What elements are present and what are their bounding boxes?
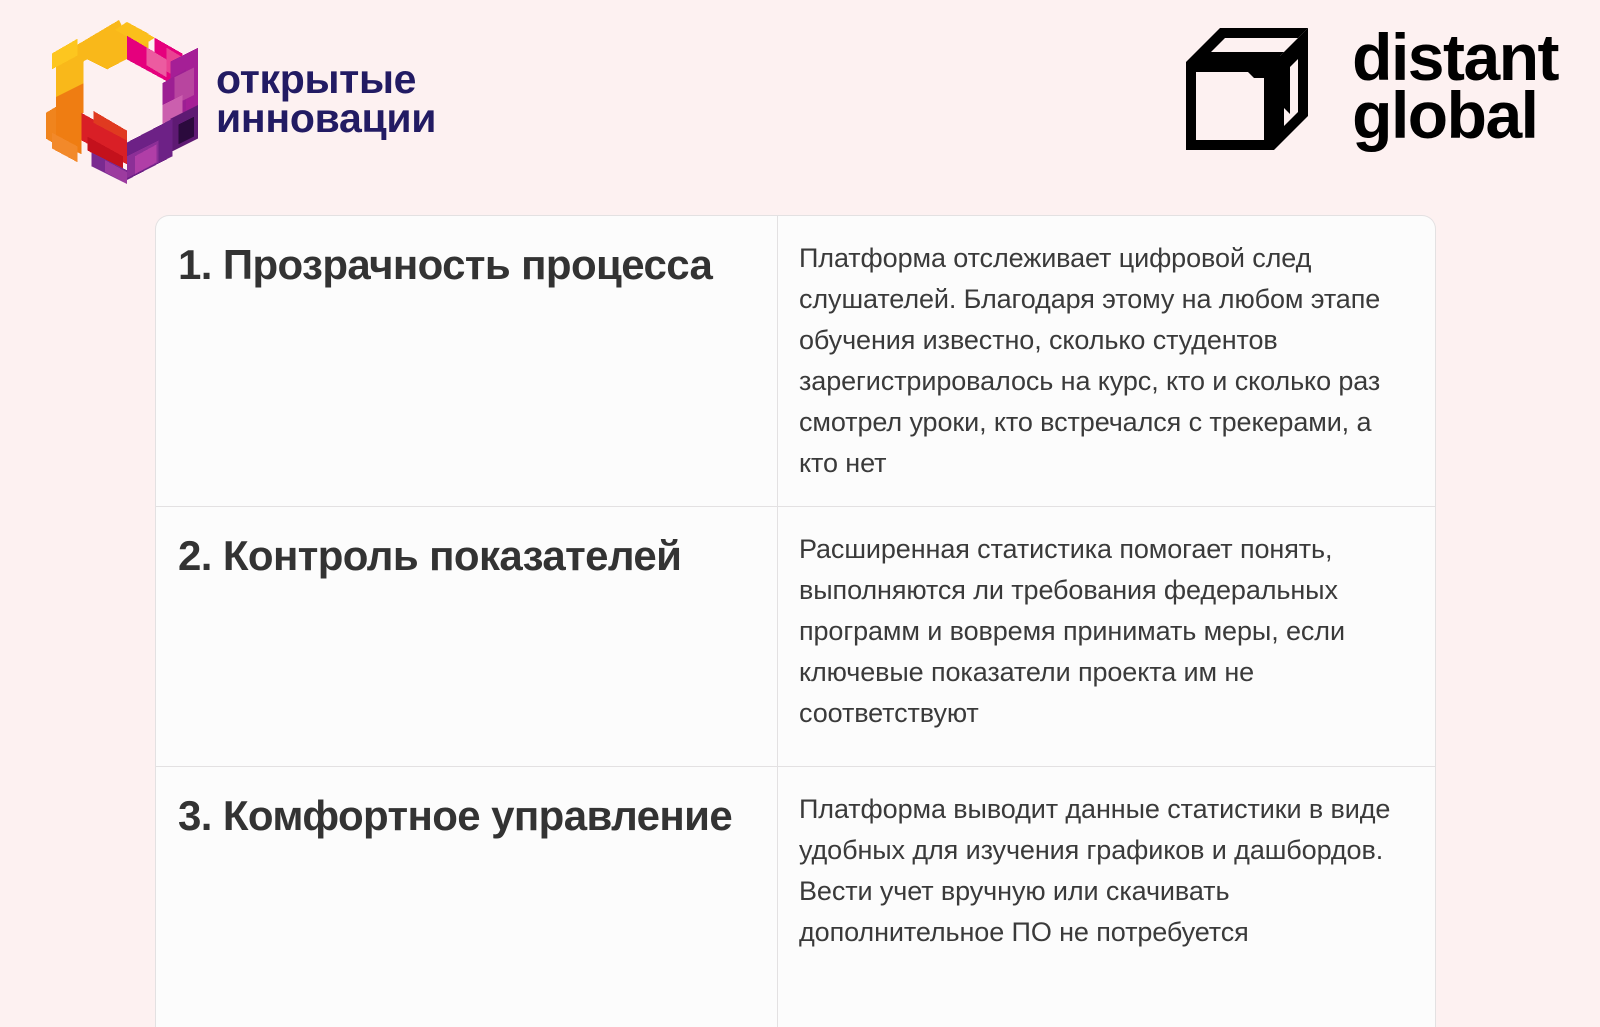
feature-title-cell: 3. Комфортное управление (156, 767, 778, 1027)
feature-description: Платформа отслеживает цифровой след слуш… (799, 238, 1405, 484)
feature-title: 3. Комфортное управление (178, 792, 747, 839)
open-innovations-logo: открытыеинновации (32, 14, 436, 184)
feature-description: Платформа выводит данные статистики в ви… (799, 789, 1405, 953)
distant-global-logo-text: distantglobal (1352, 28, 1558, 144)
feature-title: 2. Контроль показателей (178, 532, 747, 579)
hexagon-cube-logo-icon (32, 14, 210, 184)
feature-body-cell: Платформа отслеживает цифровой след слуш… (778, 216, 1435, 506)
cube-arrow-logo-icon (1180, 16, 1326, 156)
slide-header: открытыеинновации distantglobal (0, 0, 1600, 200)
open-innovations-logo-text: открытыеинновации (216, 60, 436, 139)
feature-title: 1. Прозрачность процесса (178, 241, 747, 288)
table-row: 1. Прозрачность процесса Платформа отсле… (156, 216, 1435, 507)
table-row: 3. Комфортное управление Платформа вывод… (156, 767, 1435, 1027)
distant-global-logo: distantglobal (1180, 16, 1558, 156)
feature-title-cell: 1. Прозрачность процесса (156, 216, 778, 506)
features-table: 1. Прозрачность процесса Платформа отсле… (155, 215, 1436, 1027)
feature-body-cell: Платформа выводит данные статистики в ви… (778, 767, 1435, 1027)
feature-body-cell: Расширенная статистика помогает понять, … (778, 507, 1435, 766)
slide-root: открытыеинновации distantglobal (0, 0, 1600, 1007)
feature-description: Расширенная статистика помогает понять, … (799, 529, 1405, 734)
feature-title-cell: 2. Контроль показателей (156, 507, 778, 766)
table-row: 2. Контроль показателей Расширенная стат… (156, 507, 1435, 767)
